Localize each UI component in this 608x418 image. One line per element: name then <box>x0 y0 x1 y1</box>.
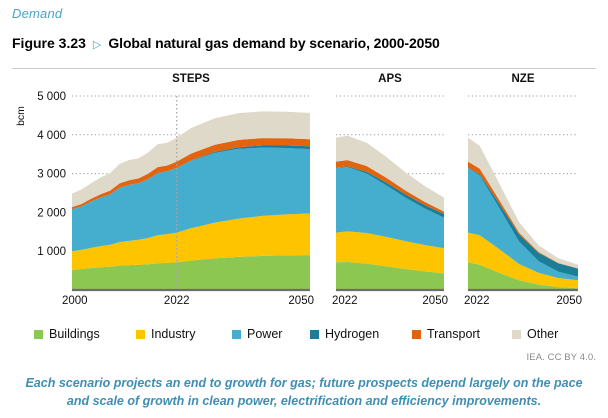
figure-title: Global natural gas demand by scenario, 2… <box>108 35 439 51</box>
legend-swatch-power <box>232 330 241 339</box>
legend-item-power: Power <box>232 327 282 341</box>
y-tick-label: 3 000 <box>37 169 66 181</box>
x-tick-label-aps-2050: 2050 <box>422 295 448 307</box>
panel-title-aps: APS <box>378 73 402 85</box>
y-axis-label: bcm <box>15 106 27 126</box>
legend-swatch-hydrogen <box>310 330 319 339</box>
legend-label: Industry <box>151 327 195 341</box>
legend-label: Buildings <box>49 327 100 341</box>
section-kicker: Demand <box>12 6 62 21</box>
stacked-area-chart: 1 0002 0003 0004 0005 000bcmSTEPS2000202… <box>0 72 608 307</box>
panel-aps <box>336 136 444 290</box>
panel-steps <box>72 111 310 290</box>
y-tick-label: 5 000 <box>37 91 66 103</box>
y-tick-label: 2 000 <box>37 207 66 219</box>
x-tick-label-steps-2000: 2000 <box>62 295 88 307</box>
panel-title-steps: STEPS <box>172 73 210 85</box>
y-tick-label: 1 000 <box>37 246 66 258</box>
chart-legend: BuildingsIndustryPowerHydrogenTransportO… <box>34 326 594 342</box>
legend-item-industry: Industry <box>136 327 195 341</box>
x-tick-label-nze-2050: 2050 <box>556 295 582 307</box>
legend-swatch-industry <box>136 330 145 339</box>
figure-caption: Each scenario projects an end to growth … <box>20 374 588 410</box>
legend-swatch-buildings <box>34 330 43 339</box>
panel-nze <box>468 138 578 290</box>
legend-item-other: Other <box>512 327 558 341</box>
x-tick-label-steps-2022: 2022 <box>164 295 190 307</box>
legend-swatch-other <box>512 330 521 339</box>
x-tick-label-nze-2022: 2022 <box>464 295 490 307</box>
chart-area: 1 0002 0003 0004 0005 000bcmSTEPS2000202… <box>0 72 608 307</box>
figure-number: Figure 3.23 <box>12 35 86 51</box>
triangle-icon: ▷ <box>93 40 101 51</box>
x-tick-label-aps-2022: 2022 <box>332 295 358 307</box>
legend-item-hydrogen: Hydrogen <box>310 327 379 341</box>
header-divider <box>12 68 596 69</box>
x-tick-label-steps-2050: 2050 <box>288 295 314 307</box>
figure-heading: Figure 3.23 ▷ Global natural gas demand … <box>12 35 440 51</box>
legend-item-transport: Transport <box>412 327 480 341</box>
y-tick-label: 4 000 <box>37 130 66 142</box>
legend-label: Power <box>247 327 282 341</box>
panel-title-nze: NZE <box>512 73 535 85</box>
legend-label: Hydrogen <box>325 327 379 341</box>
legend-swatch-transport <box>412 330 421 339</box>
credit-text: IEA. CC BY 4.0. <box>527 352 596 363</box>
legend-label: Transport <box>427 327 480 341</box>
legend-item-buildings: Buildings <box>34 327 100 341</box>
legend-label: Other <box>527 327 558 341</box>
